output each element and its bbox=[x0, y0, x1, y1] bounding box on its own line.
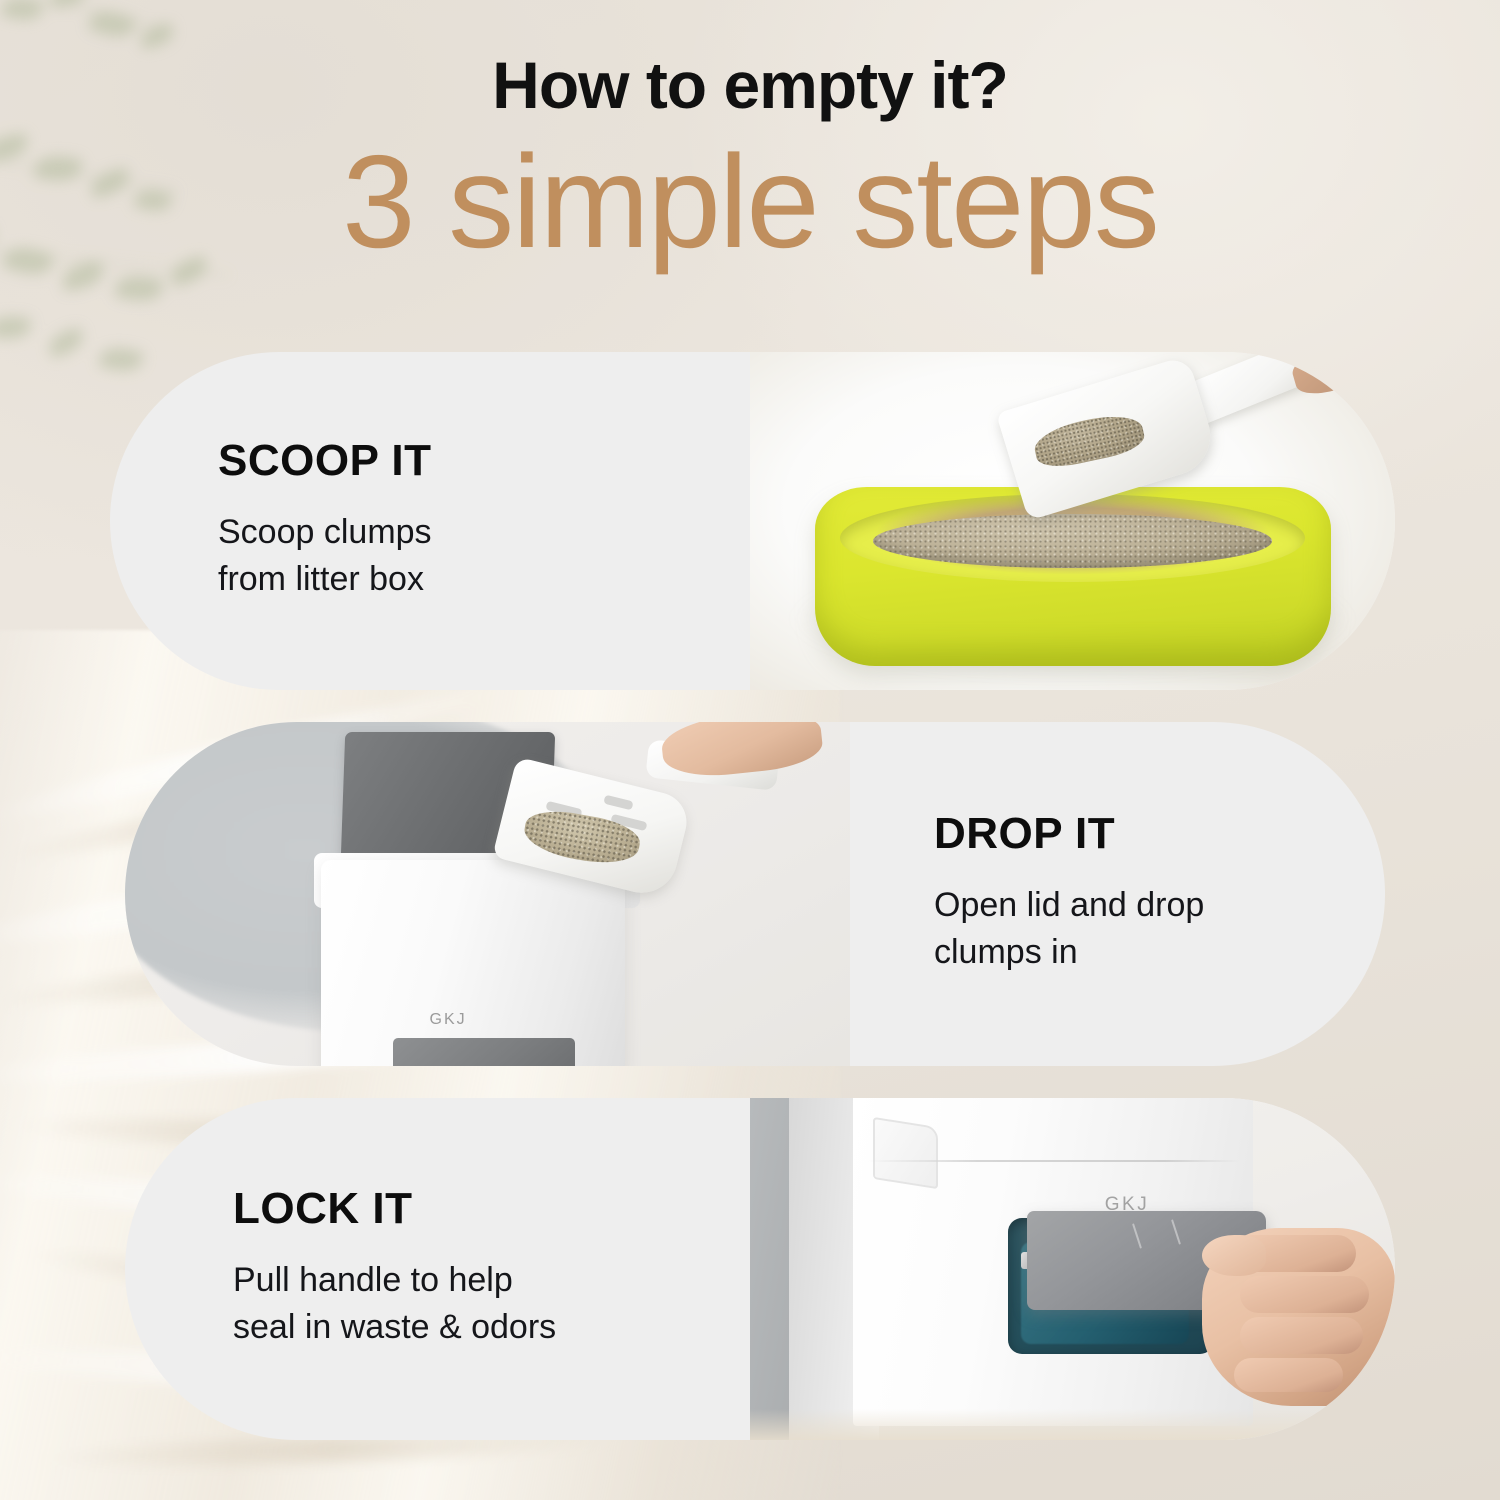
step-title: SCOOP IT bbox=[218, 439, 720, 483]
brand-mark: GKJ bbox=[430, 1011, 467, 1029]
step-title: LOCK IT bbox=[233, 1187, 720, 1231]
thumb bbox=[1202, 1235, 1267, 1276]
step-card-scoop: SCOOP IT Scoop clumps from litter box bbox=[110, 352, 750, 690]
step-desc-line-2: clumps in bbox=[934, 929, 1345, 976]
step-row-drop: GKJ DROP IT Open lid and drop clumps in bbox=[125, 722, 1385, 1066]
bin-drawer bbox=[393, 1038, 574, 1066]
step-desc-line-1: Scoop clumps bbox=[218, 509, 720, 556]
step-photo-drop: GKJ bbox=[125, 722, 850, 1066]
step-row-lock: LOCK IT Pull handle to help seal in wast… bbox=[125, 1098, 1395, 1440]
step-desc-line-1: Open lid and drop bbox=[934, 882, 1345, 929]
bin-seam-line bbox=[866, 1160, 1240, 1162]
step-description: Pull handle to help seal in waste & odor… bbox=[233, 1257, 720, 1351]
step-photo-scoop bbox=[750, 352, 1395, 690]
page-subtitle: 3 simple steps bbox=[0, 136, 1500, 268]
infographic-page: How to empty it? 3 simple steps SCOOP IT… bbox=[0, 0, 1500, 1500]
page-title: How to empty it? bbox=[0, 52, 1500, 118]
litter-bed bbox=[873, 514, 1273, 568]
step-card-lock: LOCK IT Pull handle to help seal in wast… bbox=[125, 1098, 750, 1440]
page-header: How to empty it? 3 simple steps bbox=[0, 52, 1500, 268]
step-row-scoop: SCOOP IT Scoop clumps from litter box bbox=[110, 352, 1395, 690]
step-desc-line-2: seal in waste & odors bbox=[233, 1304, 720, 1351]
step-description: Scoop clumps from litter box bbox=[218, 509, 720, 603]
step-desc-line-2: from litter box bbox=[218, 556, 720, 603]
step-description: Open lid and drop clumps in bbox=[934, 882, 1345, 976]
step-photo-lock: GKJ bbox=[750, 1098, 1395, 1440]
lid-lip-handle bbox=[873, 1117, 938, 1189]
floor-gradient bbox=[750, 1409, 1395, 1440]
step-title: DROP IT bbox=[934, 812, 1345, 856]
step-desc-line-1: Pull handle to help bbox=[233, 1257, 720, 1304]
step-card-drop: DROP IT Open lid and drop clumps in bbox=[850, 722, 1385, 1066]
white-bin-body bbox=[321, 860, 626, 1066]
